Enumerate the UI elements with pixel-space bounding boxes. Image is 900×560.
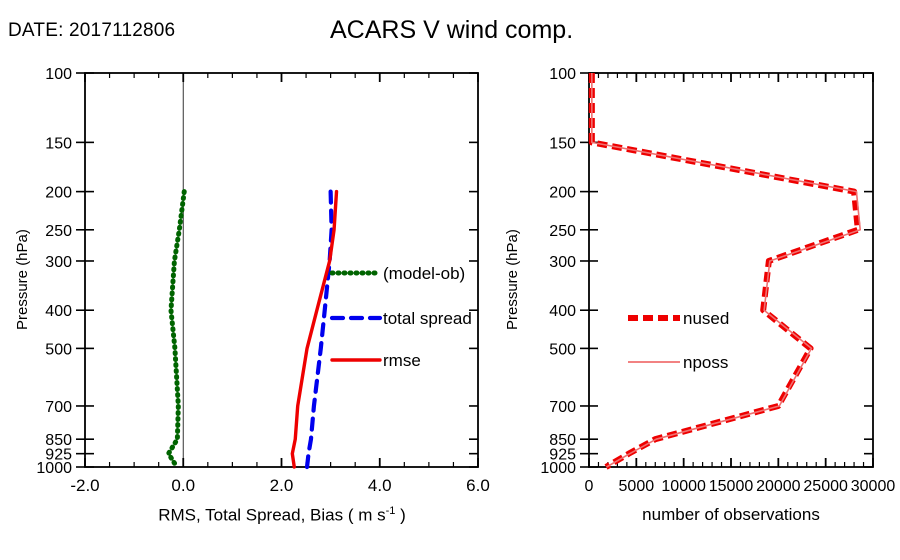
right-panel: 0500010000150002000025000300001001502002…: [490, 0, 900, 560]
svg-text:10000: 10000: [661, 478, 706, 495]
svg-text:100: 100: [45, 66, 72, 83]
svg-text:1000: 1000: [36, 460, 72, 477]
svg-text:300: 300: [45, 254, 72, 271]
svg-text:500: 500: [549, 341, 576, 358]
svg-text:400: 400: [549, 303, 576, 320]
left-x-axis-title-exponent: -1: [386, 505, 396, 517]
svg-text:150: 150: [549, 135, 576, 152]
svg-text:-2.0: -2.0: [70, 476, 99, 495]
svg-text:200: 200: [45, 185, 72, 202]
legend-label: nused: [683, 309, 729, 328]
left-x-axis-title: RMS, Total Spread, Bias ( m s-1 ): [85, 505, 479, 526]
svg-text:250: 250: [549, 223, 576, 240]
svg-text:100: 100: [549, 66, 576, 83]
svg-text:2.0: 2.0: [270, 476, 294, 495]
legend-label: rmse: [383, 351, 421, 370]
svg-text:300: 300: [549, 254, 576, 271]
left-x-axis-title-tail: ): [395, 506, 405, 525]
svg-text:30000: 30000: [851, 478, 896, 495]
right-y-axis-title: Pressure (hPa): [504, 229, 521, 330]
svg-text:150: 150: [45, 135, 72, 152]
svg-text:0.0: 0.0: [171, 476, 195, 495]
svg-text:1000: 1000: [540, 460, 576, 477]
chart-page: DATE: 2017112806 ACARS V wind comp. -2.0…: [0, 0, 900, 560]
svg-text:20000: 20000: [756, 478, 801, 495]
svg-text:700: 700: [549, 399, 576, 416]
legend-label: total spread: [383, 309, 472, 328]
svg-text:700: 700: [45, 399, 72, 416]
svg-text:15000: 15000: [709, 478, 754, 495]
left-panel-plot: -2.00.02.04.06.0100150200250300400500700…: [0, 0, 490, 560]
svg-text:6.0: 6.0: [466, 476, 490, 495]
right-x-axis-title: number of observations: [589, 505, 873, 525]
legend-label: (model-ob): [383, 264, 465, 283]
legend-label: nposs: [683, 353, 728, 372]
svg-text:4.0: 4.0: [368, 476, 392, 495]
svg-text:400: 400: [45, 303, 72, 320]
right-panel-plot: 0500010000150002000025000300001001502002…: [490, 0, 900, 560]
left-y-axis-title: Pressure (hPa): [14, 229, 31, 330]
svg-text:0: 0: [585, 478, 594, 495]
svg-text:200: 200: [549, 185, 576, 202]
svg-text:5000: 5000: [619, 478, 655, 495]
left-panel: -2.00.02.04.06.0100150200250300400500700…: [0, 0, 490, 560]
svg-text:25000: 25000: [803, 478, 848, 495]
left-x-axis-title-main: RMS, Total Spread, Bias ( m s: [158, 506, 385, 525]
svg-text:500: 500: [45, 341, 72, 358]
svg-text:250: 250: [45, 223, 72, 240]
